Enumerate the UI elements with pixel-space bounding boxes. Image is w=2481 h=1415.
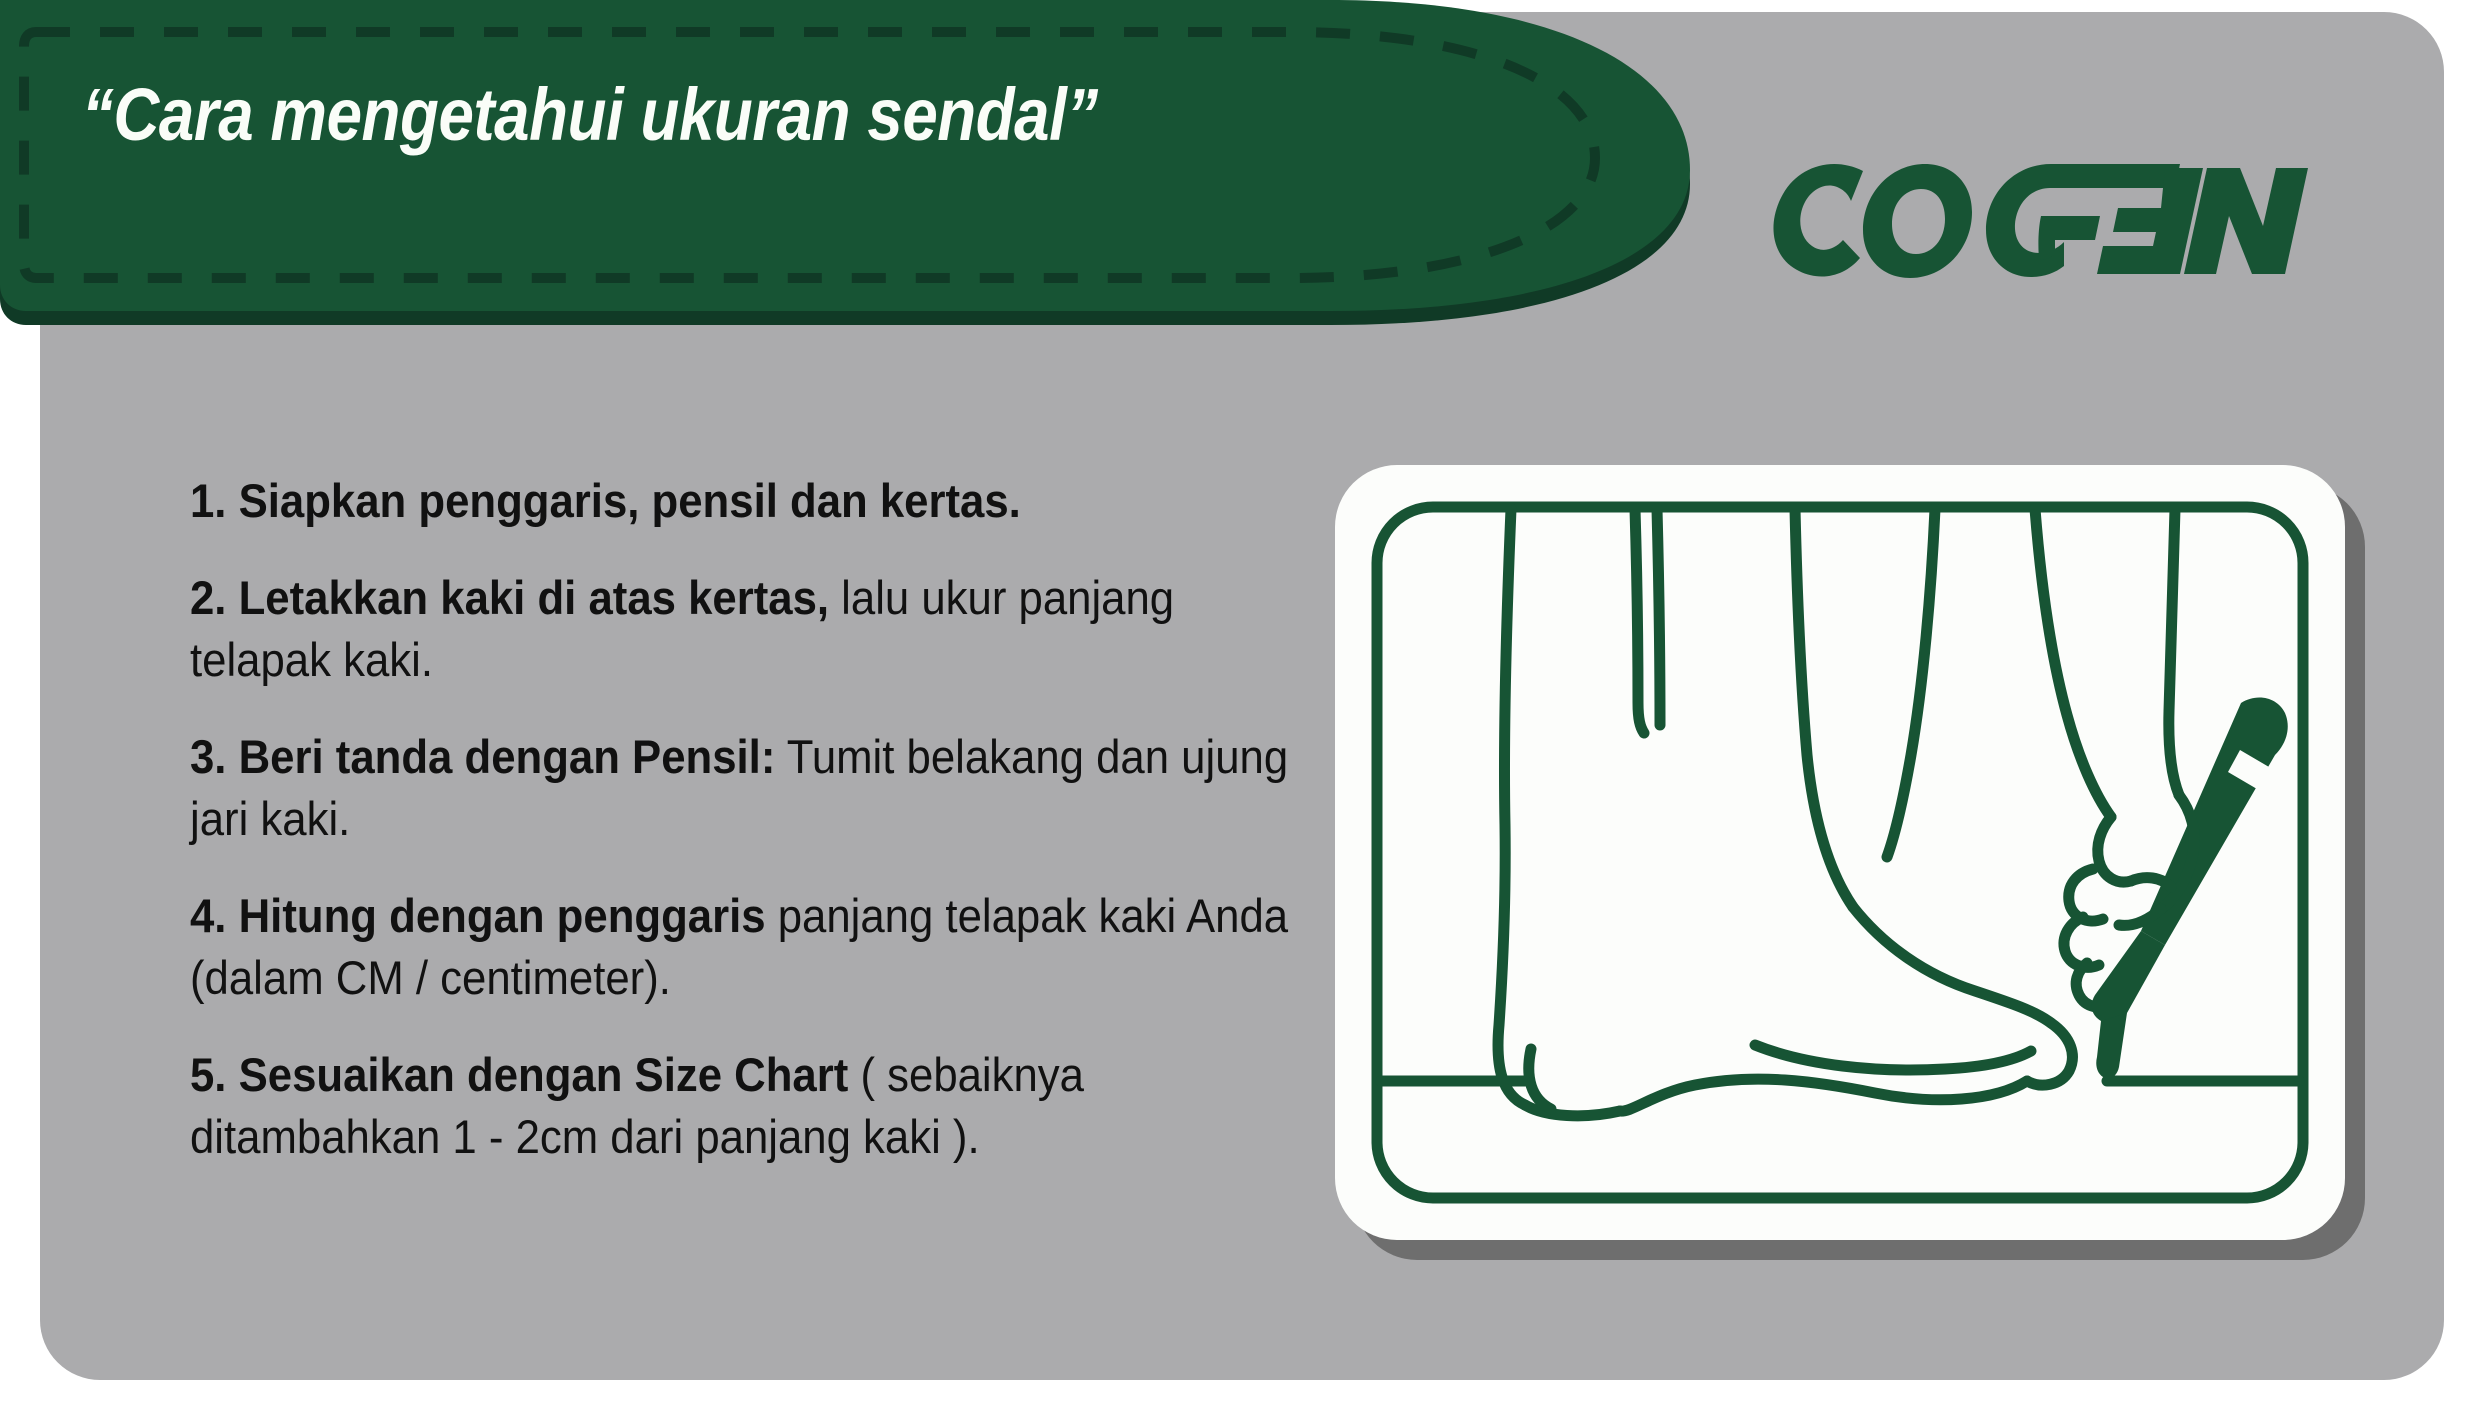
list-item: 1. Siapkan penggaris, pensil dan kertas. bbox=[190, 470, 1320, 533]
foot-measuring-illustration bbox=[1335, 465, 2345, 1240]
step-number: 5. bbox=[190, 1048, 226, 1101]
step-number: 2. bbox=[190, 571, 226, 624]
step-number: 3. bbox=[190, 730, 226, 783]
step-bold-text: Letakkan kaki di atas kertas, bbox=[239, 571, 829, 624]
step-bold-text: Beri tanda dengan Pensil: bbox=[239, 730, 776, 783]
list-item: 4. Hitung dengan penggaris panjang telap… bbox=[190, 885, 1320, 1010]
step-number: 1. bbox=[190, 474, 226, 527]
page-title: “Cara mengetahui ukuran sendal” bbox=[82, 78, 1312, 152]
title-banner: “Cara mengetahui ukuran sendal” bbox=[0, 0, 1700, 325]
infographic-root: “Cara mengetahui ukuran sendal” 1. Siapk… bbox=[0, 0, 2481, 1415]
step-bold-text: Hitung dengan penggaris bbox=[239, 889, 766, 942]
cogen-logo bbox=[1755, 150, 2345, 280]
step-number: 4. bbox=[190, 889, 226, 942]
step-bold-text: Sesuaikan dengan Size Chart bbox=[239, 1048, 849, 1101]
step-bold-text: Siapkan penggaris, pensil dan kertas. bbox=[239, 474, 1021, 527]
list-item: 2. Letakkan kaki di atas kertas, lalu uk… bbox=[190, 567, 1320, 692]
list-item: 5. Sesuaikan dengan Size Chart ( sebaikn… bbox=[190, 1044, 1320, 1169]
steps-list: 1. Siapkan penggaris, pensil dan kertas.… bbox=[190, 470, 1320, 1203]
list-item: 3. Beri tanda dengan Pensil: Tumit belak… bbox=[190, 726, 1320, 851]
